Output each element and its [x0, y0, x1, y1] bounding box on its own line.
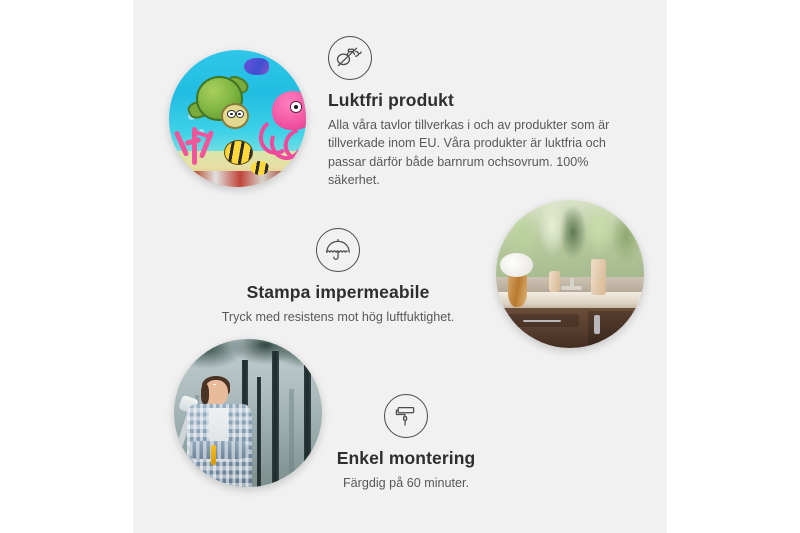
person-folded-arms — [189, 441, 247, 459]
person-smile — [213, 384, 216, 385]
feature-text: Alla våra tavlor tillverkas i och av pro… — [328, 116, 628, 189]
no-fragrance-icon — [328, 36, 372, 80]
white-flowers — [500, 253, 533, 277]
feature-easy-mounting: Enkel montering Färgdig på 60 minuter. — [296, 394, 516, 492]
tree-trunk — [272, 351, 279, 487]
sea-bottom-strip — [169, 171, 306, 187]
feature-odourless: Luktfri produkt Alla våra tavlor tillver… — [328, 36, 628, 189]
octopus-eye — [290, 101, 301, 112]
feature-waterproof: Stampa impermeabile Tryck med resistens … — [208, 228, 468, 326]
striped-fish — [224, 140, 253, 165]
feature-title: Enkel montering — [296, 448, 516, 469]
umbrella-icon — [316, 228, 360, 272]
held-tool — [211, 445, 216, 465]
feature-title: Stampa impermeabile — [208, 282, 468, 303]
bathroom-botanical-photo — [496, 200, 644, 348]
feature-text: Tryck med resistens mot hög luftfuktighe… — [208, 308, 468, 326]
turtle-eye — [236, 110, 244, 118]
octopus — [257, 91, 306, 154]
door-pull — [594, 315, 600, 333]
feature-text: Färgdig på 60 minuter. — [296, 474, 516, 492]
turtle-head — [221, 103, 249, 129]
drawer-pull — [523, 320, 561, 322]
person-hair-side — [201, 384, 209, 404]
decorator-person — [183, 377, 260, 487]
feature-title: Luktfri produkt — [328, 90, 628, 111]
faucet — [561, 286, 582, 290]
soap-bottle — [549, 271, 559, 292]
turtle-eye — [227, 110, 235, 118]
towel-roll — [591, 259, 606, 295]
coral — [173, 119, 220, 166]
octopus-head — [272, 91, 306, 130]
underwater-cartoon-photo — [169, 50, 306, 187]
wood-vanity — [496, 308, 644, 348]
blue-fish — [244, 58, 269, 74]
striped-fish-small — [251, 161, 269, 175]
tree-trunk — [289, 389, 293, 487]
promo-banner: Luktfri produkt Alla våra tavlor tillver… — [0, 0, 800, 533]
paint-roller-icon — [384, 394, 428, 438]
